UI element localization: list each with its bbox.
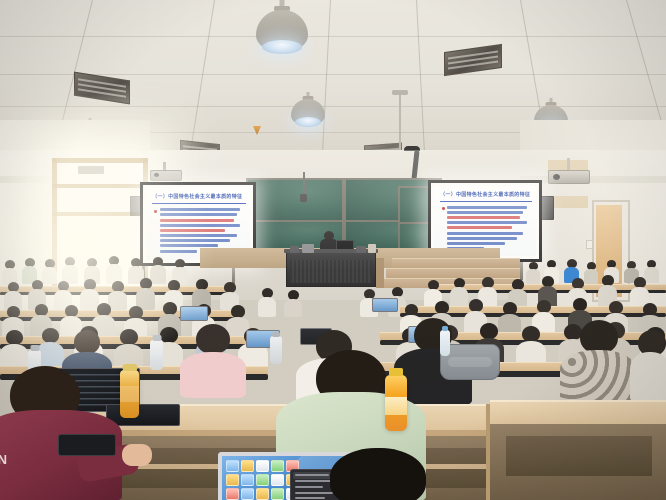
braided-hair-student	[180, 324, 246, 396]
pendant-lamp	[256, 0, 308, 62]
desktop-icon[interactable]	[271, 488, 284, 500]
ceiling-rod-base	[392, 90, 408, 95]
desktop-icon[interactable]	[241, 488, 254, 500]
maroon-shirt-student: EN	[0, 366, 122, 500]
desktop-icon[interactable]	[256, 474, 269, 486]
shirt-text: EN	[0, 452, 8, 467]
student	[258, 288, 276, 316]
desktop-icon[interactable]	[241, 460, 254, 472]
ceiling-projector	[150, 170, 182, 181]
smartphone	[58, 434, 116, 456]
desktop-icon[interactable]	[241, 474, 254, 486]
patterned-shirt-student	[560, 320, 636, 404]
pendant-lamp	[291, 92, 325, 132]
desktop-icon[interactable]	[226, 460, 239, 472]
blackboard-panel	[246, 178, 344, 222]
hanging-mic-head	[300, 194, 307, 202]
ceiling-projector	[548, 170, 590, 184]
water-bottle	[440, 330, 450, 356]
window-ac-unit	[78, 166, 104, 174]
wall-wood-panel	[548, 196, 588, 208]
wall-switch	[586, 240, 593, 249]
desk-divider	[486, 404, 490, 500]
bottle-label	[385, 397, 407, 415]
slide-title-right: （一）中国特色社会主义最本质的特征	[440, 191, 532, 199]
ceiling-sprinkler-icon	[253, 126, 261, 135]
laptop	[372, 298, 398, 312]
slide-title-left: （一）中国特色社会主义最本质的特征	[152, 193, 246, 201]
ceiling-conduit	[404, 146, 420, 151]
desktop-icon[interactable]	[271, 474, 284, 486]
student	[284, 290, 302, 316]
orange-juice-bottle	[385, 375, 407, 431]
desktop-icon[interactable]	[226, 474, 239, 486]
wall-speaker	[540, 196, 554, 220]
ceiling-vent	[74, 72, 130, 105]
ceiling-vent	[444, 44, 502, 76]
desktop-icon[interactable]	[271, 460, 284, 472]
student	[630, 330, 666, 400]
desktop-icon[interactable]	[256, 488, 269, 500]
student-head-foreground	[330, 448, 426, 500]
stage-step	[392, 258, 520, 268]
desktop-icons[interactable]	[226, 460, 299, 500]
lecture-hall-photo: （一）中国特色社会主义最本质的特征 （一）中国特色社会主义最本质的特征	[0, 0, 666, 500]
podium-equipment	[356, 246, 366, 253]
desktop-icon[interactable]	[256, 460, 269, 472]
ceiling-rod	[399, 92, 401, 154]
podium-equipment	[290, 246, 299, 253]
hanging-mic	[303, 172, 305, 196]
desk-cavity-right	[506, 436, 652, 476]
podium-equipment	[302, 244, 314, 253]
desk-surface-right	[490, 400, 666, 426]
desktop-icon[interactable]	[226, 488, 239, 500]
podium-equipment	[368, 244, 376, 253]
amber-tumbler	[120, 370, 139, 418]
insulated-tumbler	[150, 340, 163, 370]
student	[0, 330, 28, 370]
hand	[122, 444, 152, 466]
